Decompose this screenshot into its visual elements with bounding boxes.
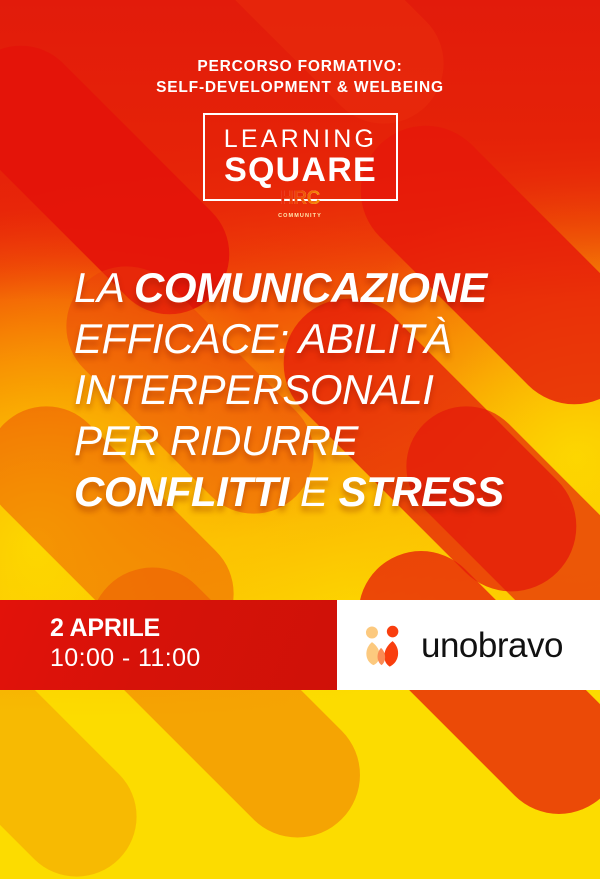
- title-line-3: INTERPERSONALI: [74, 364, 544, 415]
- event-date: 2 APRILE: [50, 616, 160, 641]
- title-line-2: EFFICACE: ABILITÀ: [74, 313, 544, 364]
- eyebrow-heading: PERCORSO FORMATIVO: SELF-DEVELOPMENT & W…: [0, 57, 600, 99]
- hrc-mark: HRC: [272, 186, 328, 211]
- hrc-community-label: COMMUNITY: [272, 213, 328, 219]
- logo-learning-text: LEARNING: [205, 127, 396, 152]
- unobravo-petals-icon: [359, 621, 407, 669]
- event-band: 2 APRILE 10:00 - 11:00 unobravo: [0, 600, 600, 690]
- hrc-community-badge: HRC COMMUNITY: [272, 186, 328, 219]
- page-title: LA COMUNICAZIONE EFFICACE: ABILITÀ INTER…: [74, 262, 544, 517]
- title-line-1: LA COMUNICAZIONE: [74, 262, 544, 313]
- title-line-5: CONFLITTI E STRESS: [74, 466, 544, 517]
- unobravo-logo: unobravo: [359, 621, 563, 669]
- title-line-1-bold: COMUNICAZIONE: [134, 264, 487, 311]
- sponsor-panel: unobravo: [337, 600, 600, 690]
- poster-canvas: PERCORSO FORMATIVO: SELF-DEVELOPMENT & W…: [0, 0, 600, 879]
- title-line-5-bold2: STRESS: [339, 468, 504, 515]
- unobravo-wordmark: unobravo: [421, 628, 563, 663]
- title-line-4: PER RIDURRE: [74, 415, 544, 466]
- title-line-5-mid: E: [289, 468, 339, 515]
- hrc-mark-text: HRC: [280, 188, 320, 210]
- event-time: 10:00 - 11:00: [50, 646, 201, 671]
- title-line-5-bold: CONFLITTI: [74, 468, 289, 515]
- eyebrow-line-2: SELF-DEVELOPMENT & WELBEING: [0, 78, 600, 99]
- title-line-1-light: LA: [74, 264, 134, 311]
- eyebrow-line-1: PERCORSO FORMATIVO:: [0, 57, 600, 78]
- logo-square-text: SQUARE: [205, 153, 396, 187]
- event-date-panel: 2 APRILE 10:00 - 11:00: [0, 600, 337, 690]
